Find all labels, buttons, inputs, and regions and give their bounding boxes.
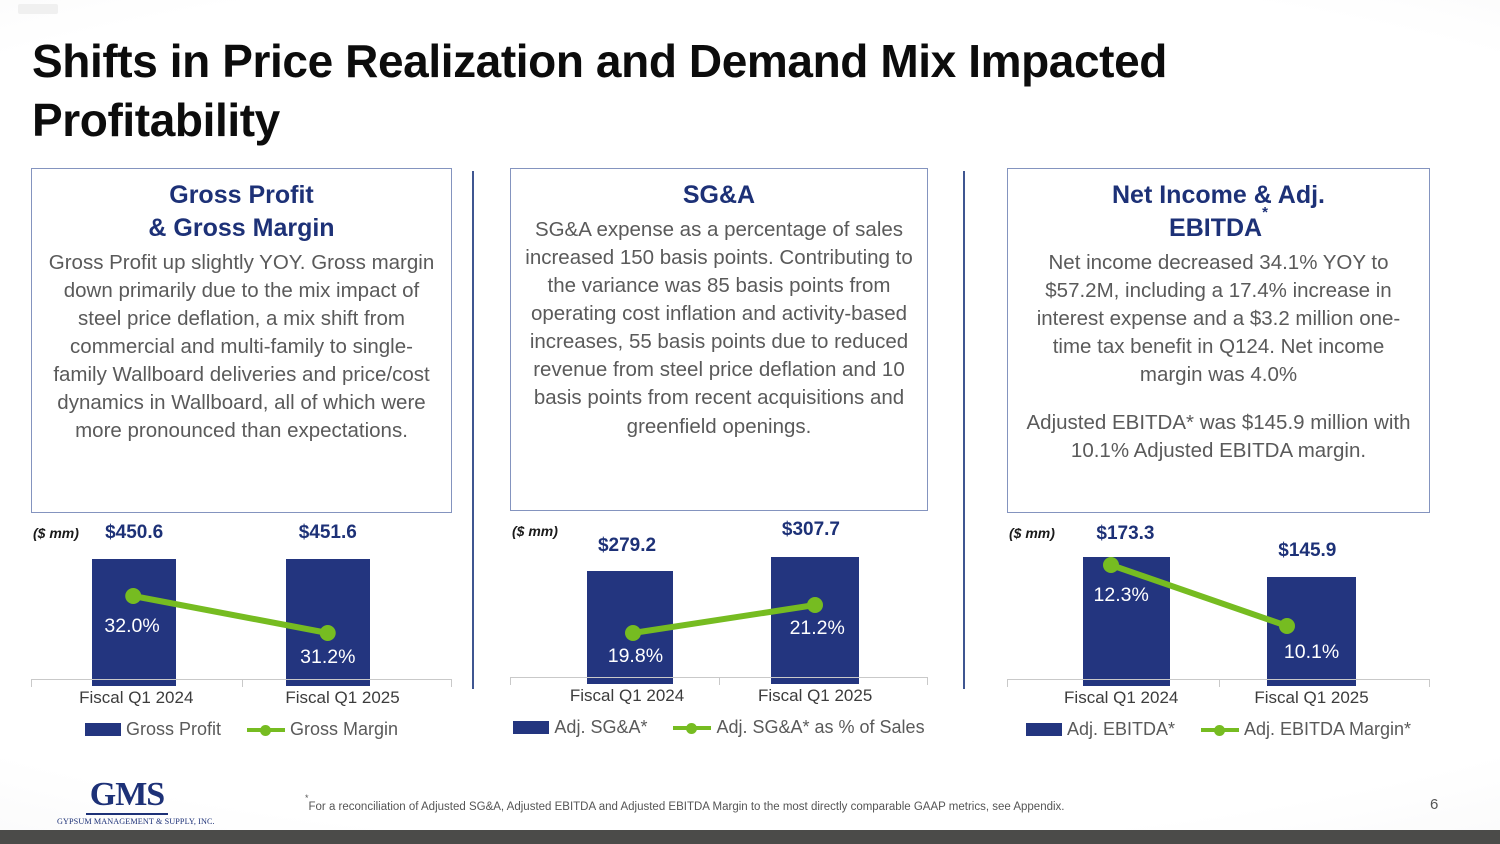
chart-axis bbox=[510, 677, 928, 685]
margin-value-label: 10.1% bbox=[1284, 641, 1339, 664]
footnote-asterisk: * bbox=[305, 793, 309, 803]
panel-heading-sga: SG&A bbox=[523, 179, 915, 212]
gms-logo: GMS GYPSUM MANAGEMENT & SUPPLY, INC. bbox=[57, 778, 197, 826]
bottom-accent-bar bbox=[0, 830, 1500, 844]
margin-value-label: 12.3% bbox=[1094, 584, 1149, 607]
legend-bar-swatch-icon bbox=[1026, 723, 1062, 736]
chart-plot-area: $173.3 $145.9 12.3% 10.1% bbox=[1007, 523, 1430, 686]
column-sga: SG&A SG&A expense as a percentage of sal… bbox=[510, 168, 928, 726]
logo-subtitle: GYPSUM MANAGEMENT & SUPPLY, INC. bbox=[57, 817, 197, 826]
panel-heading-asterisk: * bbox=[1262, 204, 1268, 221]
panel-card-sga: SG&A SG&A expense as a percentage of sal… bbox=[510, 168, 928, 511]
legend-line-swatch-icon bbox=[673, 721, 711, 734]
x-label-q1-2024: Fiscal Q1 2024 bbox=[79, 688, 193, 708]
panel-card-gross-profit: Gross Profit & Gross Margin Gross Profit… bbox=[31, 168, 452, 513]
footnote: *For a reconciliation of Adjusted SG&A, … bbox=[305, 797, 1065, 813]
column-divider-2 bbox=[963, 171, 965, 689]
margin-value-label: 31.2% bbox=[300, 646, 355, 669]
legend-item-bar: Adj. SG&A* bbox=[513, 717, 647, 738]
x-label-q1-2025: Fiscal Q1 2025 bbox=[1254, 688, 1368, 708]
slide-canvas: Shifts in Price Realization and Demand M… bbox=[0, 0, 1500, 844]
legend-label: Gross Profit bbox=[126, 719, 221, 740]
chart-sga: ($ mm) $279.2 $307.7 19.8% 21.2% Fiscal … bbox=[510, 521, 928, 726]
legend-label: Gross Margin bbox=[290, 719, 398, 740]
legend-label: Adj. SG&A* bbox=[554, 717, 647, 738]
chart-axis bbox=[31, 679, 452, 687]
margin-line-series bbox=[1007, 523, 1430, 686]
legend-label: Adj. EBITDA Margin* bbox=[1244, 719, 1411, 740]
margin-value-label: 32.0% bbox=[104, 615, 159, 638]
legend-line-swatch-icon bbox=[1201, 723, 1239, 736]
footnote-text: For a reconciliation of Adjusted SG&A, A… bbox=[309, 801, 1065, 813]
legend-label: Adj. EBITDA* bbox=[1067, 719, 1175, 740]
panel-heading-ebitda: Net Income & Adj. EBITDA* bbox=[1020, 179, 1417, 245]
chart-axis bbox=[1007, 679, 1430, 687]
panel-heading-line1: Net Income & Adj. bbox=[1112, 181, 1325, 209]
chart-ebitda: ($ mm) $173.3 $145.9 12.3% 10.1% Fiscal … bbox=[1007, 523, 1430, 728]
chart-x-labels: Fiscal Q1 2024 Fiscal Q1 2025 bbox=[1007, 688, 1430, 710]
legend-item-bar: Gross Profit bbox=[85, 719, 221, 740]
legend-item-line: Adj. SG&A* as % of Sales bbox=[673, 717, 924, 738]
panel-heading-line2: EBITDA bbox=[1169, 214, 1262, 242]
axis-tick bbox=[719, 678, 720, 685]
margin-line-series bbox=[31, 523, 452, 686]
column-ebitda: Net Income & Adj. EBITDA* Net income dec… bbox=[1007, 168, 1430, 728]
page-title: Shifts in Price Realization and Demand M… bbox=[32, 32, 1362, 150]
page-number: 6 bbox=[1430, 796, 1438, 813]
legend-label: Adj. SG&A* as % of Sales bbox=[716, 717, 924, 738]
top-artifact bbox=[18, 4, 58, 14]
x-label-q1-2025: Fiscal Q1 2025 bbox=[758, 686, 872, 706]
panel-heading-line2: & Gross Margin bbox=[148, 214, 334, 242]
x-label-q1-2024: Fiscal Q1 2024 bbox=[570, 686, 684, 706]
x-label-q1-2025: Fiscal Q1 2025 bbox=[285, 688, 399, 708]
x-label-q1-2024: Fiscal Q1 2024 bbox=[1064, 688, 1178, 708]
column-divider-1 bbox=[472, 171, 474, 689]
margin-value-label: 19.8% bbox=[608, 645, 663, 668]
chart-x-labels: Fiscal Q1 2024 Fiscal Q1 2025 bbox=[510, 686, 928, 708]
panel-heading-line1: SG&A bbox=[683, 181, 755, 209]
axis-tick bbox=[1219, 680, 1220, 687]
legend-item-line: Gross Margin bbox=[247, 719, 398, 740]
panel-body-ebitda-2: Adjusted EBITDA* was $145.9 million with… bbox=[1020, 409, 1417, 465]
chart-legend: Gross Profit Gross Margin bbox=[31, 719, 452, 740]
panel-body-sga: SG&A expense as a percentage of sales in… bbox=[523, 216, 915, 441]
panel-heading-line1: Gross Profit bbox=[169, 181, 313, 209]
legend-item-line: Adj. EBITDA Margin* bbox=[1201, 719, 1411, 740]
chart-gross-profit: ($ mm) $450.6 $451.6 32.0% 31.2% Fiscal … bbox=[31, 523, 452, 728]
margin-line-series bbox=[510, 521, 928, 684]
legend-bar-swatch-icon bbox=[85, 723, 121, 736]
panel-body-gross-profit: Gross Profit up slightly YOY. Gross marg… bbox=[44, 249, 439, 446]
panel-card-ebitda: Net Income & Adj. EBITDA* Net income dec… bbox=[1007, 168, 1430, 513]
legend-item-bar: Adj. EBITDA* bbox=[1026, 719, 1175, 740]
chart-x-labels: Fiscal Q1 2024 Fiscal Q1 2025 bbox=[31, 688, 452, 710]
chart-legend: Adj. EBITDA* Adj. EBITDA Margin* bbox=[1007, 719, 1430, 740]
axis-tick bbox=[242, 680, 243, 687]
legend-line-swatch-icon bbox=[247, 723, 285, 736]
column-gross-profit: Gross Profit & Gross Margin Gross Profit… bbox=[31, 168, 452, 728]
panel-heading-gross-profit: Gross Profit & Gross Margin bbox=[44, 179, 439, 245]
legend-bar-swatch-icon bbox=[513, 721, 549, 734]
chart-plot-area: $279.2 $307.7 19.8% 21.2% bbox=[510, 521, 928, 684]
chart-plot-area: $450.6 $451.6 32.0% 31.2% bbox=[31, 523, 452, 686]
margin-value-label: 21.2% bbox=[790, 617, 845, 640]
panel-body-ebitda-1: Net income decreased 34.1% YOY to $57.2M… bbox=[1020, 249, 1417, 389]
chart-legend: Adj. SG&A* Adj. SG&A* as % of Sales bbox=[510, 717, 928, 738]
logo-wordmark: GMS bbox=[86, 778, 168, 815]
